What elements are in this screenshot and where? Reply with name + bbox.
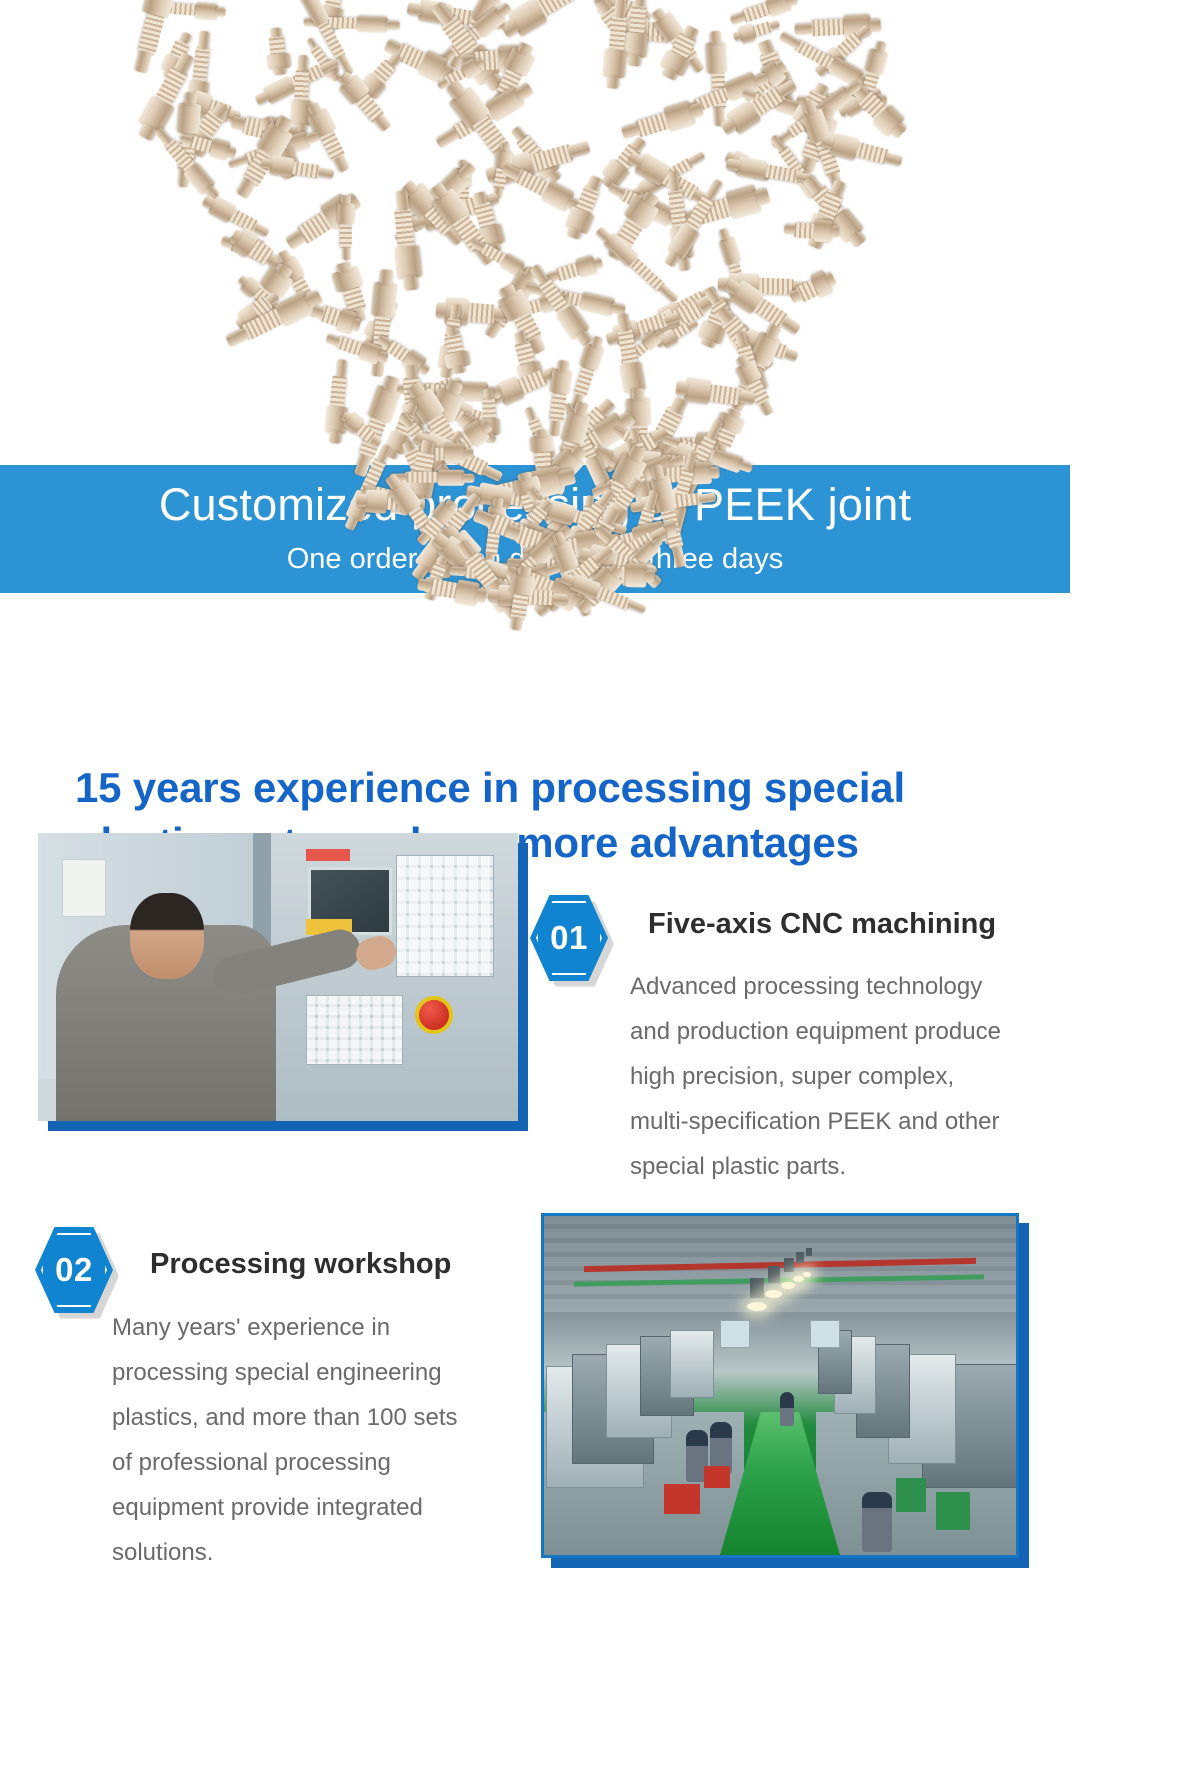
feature-02-body: Many years' experience in processing spe… bbox=[112, 1305, 532, 1575]
cnc-emergency-stop bbox=[415, 996, 453, 1034]
peek-fitting bbox=[786, 267, 839, 310]
fitting-nose bbox=[759, 400, 774, 416]
fitting-nose bbox=[778, 32, 801, 50]
cnc-photo-art bbox=[38, 833, 518, 1121]
feature-01-body-line: and production equipment produce bbox=[630, 1009, 1060, 1054]
fitting-nose bbox=[297, 55, 308, 71]
fitting-stub bbox=[380, 270, 394, 286]
fitting-hex-head bbox=[529, 435, 553, 453]
fitting-stub bbox=[518, 565, 532, 576]
fitting-thread bbox=[329, 375, 346, 409]
fitting-hex-head bbox=[549, 369, 572, 395]
cnc-keypad-upper bbox=[396, 855, 494, 977]
fitting-hex-head bbox=[602, 49, 627, 79]
fitting-stub bbox=[875, 40, 887, 52]
fitting-nose bbox=[405, 365, 418, 379]
workshop-ceiling-beam bbox=[544, 1238, 1016, 1243]
fitting-stub bbox=[386, 20, 400, 29]
fitting-hex-head bbox=[438, 470, 465, 486]
fitting-stub bbox=[534, 430, 547, 438]
fitting-thread bbox=[629, 4, 647, 35]
fitting-stub bbox=[464, 448, 473, 459]
fitting-nose bbox=[511, 616, 524, 630]
fitting-hex-head bbox=[337, 203, 354, 224]
fitting-nose bbox=[417, 578, 433, 592]
fitting-stub bbox=[606, 76, 619, 89]
fitting-hex-head bbox=[269, 155, 295, 177]
fitting-nose bbox=[616, 313, 630, 333]
fitting-stub bbox=[488, 589, 500, 602]
feature-02-body-line: of professional processing bbox=[112, 1440, 532, 1485]
workshop-lamp-glow bbox=[803, 1272, 811, 1277]
feature-01-body-line: high precision, super complex, bbox=[630, 1054, 1060, 1099]
feature-01-title: Five-axis CNC machining bbox=[648, 908, 996, 941]
workshop-lamp-glow bbox=[765, 1290, 782, 1298]
fitting-nose bbox=[784, 225, 795, 235]
cnc-sticker-red bbox=[306, 849, 350, 861]
fitting-nose bbox=[687, 151, 705, 166]
fitting-nose bbox=[226, 328, 250, 348]
fitting-nose bbox=[135, 50, 153, 74]
workshop-green-bin bbox=[896, 1478, 926, 1512]
product-detail-page: Customized processing of PEEK joint One … bbox=[0, 0, 1200, 1772]
fitting-hex-head bbox=[510, 573, 535, 596]
fitting-stub bbox=[557, 360, 569, 372]
workshop-red-cart bbox=[664, 1484, 700, 1514]
fitting-hex-head bbox=[194, 2, 217, 20]
workshop-green-bin bbox=[936, 1492, 970, 1530]
fitting-hex-head bbox=[177, 103, 201, 135]
section-heading-line1: 15 years experience in processing specia… bbox=[75, 764, 905, 811]
peek-fitting bbox=[783, 219, 839, 243]
fitting-nose bbox=[552, 593, 569, 604]
fitting-nose bbox=[449, 566, 465, 576]
fitting-stub bbox=[340, 195, 350, 204]
feature-02-body-line: plastics, and more than 100 sets bbox=[112, 1395, 532, 1440]
fitting-stub bbox=[627, 55, 641, 67]
fitting-nose bbox=[671, 546, 686, 569]
fitting-thread bbox=[763, 164, 801, 183]
fitting-hex-head bbox=[444, 443, 465, 463]
feature-02-number: 02 bbox=[35, 1227, 113, 1313]
fitting-hex-head bbox=[864, 48, 888, 75]
fitting-stub bbox=[261, 158, 272, 169]
fitting-nose bbox=[435, 128, 460, 149]
feature-02-image bbox=[541, 1213, 1019, 1558]
fitting-thread bbox=[169, 3, 197, 16]
processing-workshop-photo bbox=[541, 1213, 1019, 1558]
peek-fitting bbox=[264, 27, 291, 76]
feature-02-body-line: processing special engineering bbox=[112, 1350, 532, 1395]
fitting-stub bbox=[304, 131, 319, 145]
fitting-thread bbox=[339, 222, 351, 248]
fitting-thread bbox=[810, 18, 845, 36]
workshop-red-cart bbox=[704, 1466, 730, 1488]
fitting-thread bbox=[510, 592, 529, 620]
fitting-stub bbox=[645, 570, 654, 583]
fitting-stub bbox=[273, 67, 287, 75]
fitting-hex-head bbox=[357, 16, 388, 33]
fitting-nose bbox=[684, 452, 696, 472]
fitting-nose bbox=[769, 20, 780, 30]
fitting-nose bbox=[734, 331, 748, 347]
peek-fitting bbox=[497, 0, 594, 43]
fitting-nose bbox=[230, 116, 246, 132]
fitting-stub bbox=[403, 276, 418, 291]
fitting-hex-head bbox=[736, 156, 768, 180]
workshop-lamp-glow bbox=[793, 1276, 804, 1282]
fitting-thread bbox=[465, 302, 495, 323]
workshop-window bbox=[810, 1320, 840, 1348]
feature-02-body-line: equipment provide integrated bbox=[112, 1485, 532, 1530]
peek-fitting bbox=[337, 195, 354, 260]
fitting-thread bbox=[290, 161, 321, 178]
fitting-thread bbox=[394, 208, 415, 250]
fitting-nose bbox=[784, 348, 799, 362]
fitting-stub bbox=[328, 430, 341, 443]
feature-01-number: 01 bbox=[530, 895, 608, 981]
workshop-lamp bbox=[796, 1252, 804, 1263]
workshop-window bbox=[720, 1320, 750, 1348]
workshop-lamp bbox=[768, 1266, 780, 1283]
fitting-thread bbox=[609, 15, 627, 52]
workshop-lamp-glow bbox=[781, 1282, 795, 1289]
workshop-worker bbox=[780, 1392, 794, 1426]
fitting-nose bbox=[483, 389, 493, 400]
fitting-hex-head bbox=[706, 42, 728, 74]
workshop-lamp bbox=[750, 1278, 764, 1298]
fitting-nose bbox=[396, 190, 410, 211]
fitting-thread bbox=[294, 70, 309, 103]
fitting-nose bbox=[319, 57, 339, 73]
fitting-nose bbox=[270, 28, 282, 38]
fitting-hex-head bbox=[719, 236, 742, 266]
fitting-nose bbox=[769, 134, 785, 152]
peek-fitting bbox=[260, 154, 334, 183]
fitting-hex-head bbox=[625, 563, 647, 587]
workshop-lamp-glow bbox=[747, 1302, 767, 1311]
fitting-stub bbox=[738, 460, 753, 473]
feature-01-body-line: special plastic parts. bbox=[630, 1144, 1060, 1189]
feature-01-number-badge: 01 bbox=[530, 895, 608, 981]
workshop-worker bbox=[862, 1492, 892, 1552]
feature-01-image bbox=[38, 833, 518, 1121]
fitting-stub bbox=[710, 467, 720, 479]
feature-02-number-badge: 02 bbox=[35, 1227, 113, 1313]
fitting-thread bbox=[708, 385, 741, 406]
fitting-stub bbox=[710, 31, 722, 45]
feature-02-body-line: solutions. bbox=[112, 1530, 532, 1575]
fitting-nose bbox=[335, 359, 346, 377]
fitting-nose bbox=[449, 304, 460, 320]
fitting-stub bbox=[407, 2, 423, 16]
fitting-nose bbox=[699, 492, 717, 503]
feature-02-title: Processing workshop bbox=[150, 1248, 451, 1281]
fitting-nose bbox=[730, 12, 746, 25]
fitting-stub bbox=[492, 496, 503, 507]
fitting-nose bbox=[795, 23, 813, 35]
fitting-nose bbox=[420, 440, 435, 455]
fitting-hex-head bbox=[364, 489, 388, 513]
workshop-ceiling-beam bbox=[544, 1252, 1016, 1257]
fitting-nose bbox=[705, 178, 723, 200]
fitting-nose bbox=[627, 599, 647, 613]
fitting-thread bbox=[405, 471, 439, 482]
fitting-nose bbox=[342, 247, 350, 260]
workshop-ceiling-beam bbox=[544, 1224, 1016, 1229]
workshop-photo-art bbox=[544, 1216, 1016, 1555]
feature-01-body-line: multi-specification PEEK and other bbox=[630, 1099, 1060, 1144]
peek-fitting bbox=[323, 359, 351, 444]
fitting-nose bbox=[318, 167, 334, 178]
fitting-thread bbox=[617, 329, 638, 367]
fitting-nose bbox=[885, 153, 903, 167]
fitting-stub bbox=[831, 226, 840, 238]
workshop-lamp bbox=[806, 1248, 812, 1256]
fitting-stub bbox=[593, 258, 604, 270]
workshop-machine bbox=[670, 1330, 714, 1398]
fitting-hex-head bbox=[372, 282, 398, 318]
feature-01-body-line: Advanced processing technology bbox=[630, 964, 1060, 1009]
fitting-nose bbox=[614, 0, 627, 19]
fitting-stub bbox=[726, 158, 741, 171]
feature-01-body: Advanced processing technology and produ… bbox=[630, 964, 1060, 1189]
fitting-thread bbox=[138, 12, 166, 56]
fitting-nose bbox=[738, 391, 756, 405]
fitting-nose bbox=[668, 171, 680, 192]
fitting-hex-head bbox=[813, 221, 832, 243]
cnc-wall-label bbox=[62, 859, 106, 917]
fitting-nose bbox=[706, 418, 723, 441]
fitting-hex-head bbox=[578, 292, 614, 317]
cnc-operator-head bbox=[130, 893, 204, 979]
fitting-nose bbox=[375, 444, 391, 464]
fitting-stub bbox=[184, 92, 197, 106]
workshop-lamp bbox=[784, 1258, 794, 1272]
cnc-operator-photo bbox=[38, 833, 518, 1121]
fitting-nose bbox=[524, 406, 536, 421]
fitting-nose bbox=[567, 140, 591, 157]
fitting-nose bbox=[325, 334, 340, 347]
fitting-thread bbox=[853, 142, 889, 165]
fitting-stub bbox=[357, 494, 368, 508]
fitting-nose bbox=[644, 489, 658, 511]
fitting-stub bbox=[632, 388, 646, 401]
fitting-nose bbox=[197, 31, 209, 50]
cnc-keypad-lower bbox=[306, 995, 403, 1065]
fitting-nose bbox=[513, 331, 526, 344]
feature-02-body-line: Many years' experience in bbox=[112, 1305, 532, 1350]
fitting-nose bbox=[333, 155, 350, 173]
fitting-stub bbox=[215, 7, 226, 17]
